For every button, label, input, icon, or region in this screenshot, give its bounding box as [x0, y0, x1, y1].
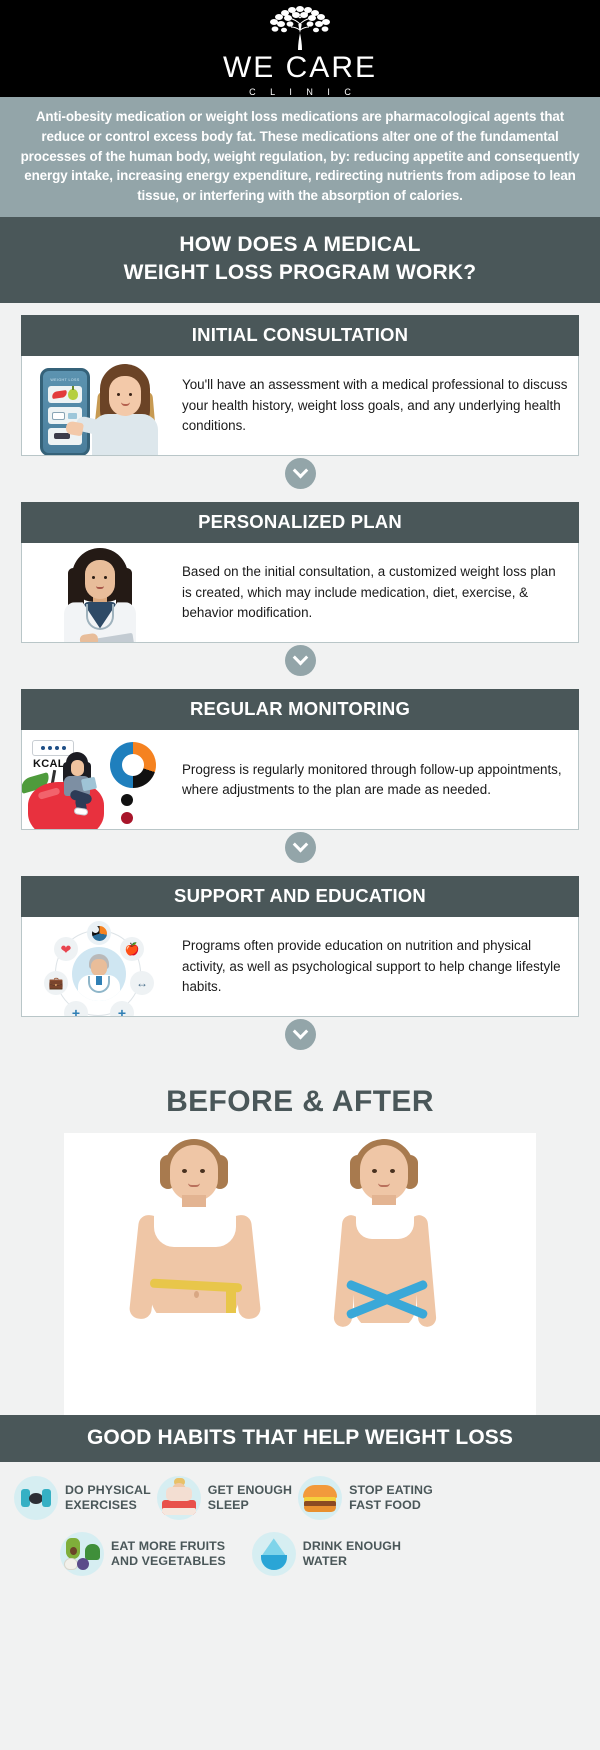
chili-icon	[52, 390, 68, 399]
brand-header: WE CARE C L I N I C	[0, 0, 600, 97]
step-heading: INITIAL CONSULTATION	[21, 315, 579, 356]
kcal-apple-donut-illustration: KCAL	[22, 730, 174, 829]
habits-title: GOOD HABITS THAT HELP WEIGHT LOSS	[0, 1415, 600, 1462]
doctor-wellness-wheel-illustration: ❤ 🍎 💼 ↔ + +	[22, 917, 174, 1016]
step-body: KCAL	[21, 730, 579, 830]
chevron-down-icon	[285, 1019, 316, 1050]
before-after-photo	[64, 1133, 536, 1415]
page-title: HOW DOES A MEDICAL WEIGHT LOSS PROGRAM W…	[0, 217, 600, 303]
step-body: Based on the initial consultation, a cus…	[21, 543, 579, 643]
habit-item-sleep: GET ENOUGH SLEEP	[157, 1476, 292, 1520]
step-card-personalized-plan: PERSONALIZED PLAN Based on the initial c…	[21, 502, 579, 643]
doctor-figure	[62, 548, 138, 642]
step-text: You'll have an assessment with a medical…	[174, 356, 578, 455]
step-body: WEIGHT LOSS	[21, 356, 579, 456]
sleep-icon	[157, 1476, 201, 1520]
seated-woman-figure	[56, 752, 100, 810]
step-card-support-and-education: SUPPORT AND EDUCATION ❤ 🍎 💼 ↔ + +	[21, 876, 579, 1017]
phone-screen-label: WEIGHT LOSS	[43, 378, 87, 382]
chevron-down-icon	[285, 832, 316, 863]
page-title-line2: WEIGHT LOSS PROGRAM WORK?	[10, 259, 590, 287]
step-heading: SUPPORT AND EDUCATION	[21, 876, 579, 917]
doctor-avatar	[72, 947, 126, 1001]
infographic-page: WE CARE C L I N I C Anti-obesity medicat…	[0, 0, 600, 1750]
habit-label: DRINK ENOUGH WATER	[303, 1539, 401, 1569]
step-text: Progress is regularly monitored through …	[174, 730, 578, 829]
brand-name: WE CARE	[223, 53, 377, 83]
phone-row-food	[48, 386, 82, 403]
female-doctor-photo	[22, 543, 174, 642]
phone-woman-illustration: WEIGHT LOSS	[22, 356, 174, 455]
before-after-title: BEFORE & AFTER	[0, 1063, 600, 1133]
dumbbell-small-icon	[54, 433, 70, 439]
legend-dots	[121, 794, 133, 829]
burger-icon	[298, 1476, 342, 1520]
donut-chart-icon	[110, 742, 156, 788]
after-figure	[310, 1145, 460, 1407]
plus-icon: +	[64, 1001, 88, 1016]
habit-item-fruits-vegetables: EAT MORE FRUITS AND VEGETABLES	[60, 1532, 226, 1576]
pill-icon	[68, 413, 77, 419]
step-connector	[21, 456, 579, 502]
steps-list: INITIAL CONSULTATION WEIGHT LOSS	[0, 303, 600, 1063]
pillbox-icon	[52, 412, 65, 420]
woman-pointing-figure	[82, 362, 174, 455]
chevron-down-icon	[285, 458, 316, 489]
dumbbell-icon	[14, 1476, 58, 1520]
intro-paragraph: Anti-obesity medication or weight loss m…	[0, 97, 600, 217]
habit-label: EAT MORE FRUITS AND VEGETABLES	[111, 1539, 226, 1569]
brand-subtitle: C L I N I C	[243, 87, 357, 97]
pear-icon	[68, 389, 78, 400]
habit-label: DO PHYSICAL EXERCISES	[65, 1483, 151, 1513]
habit-item-fastfood: STOP EATING FAST FOOD	[298, 1476, 433, 1520]
plus-icon: +	[110, 1001, 134, 1016]
step-text: Programs often provide education on nutr…	[174, 917, 578, 1016]
step-heading: REGULAR MONITORING	[21, 689, 579, 730]
step-text: Based on the initial consultation, a cus…	[174, 543, 578, 642]
page-title-line1: HOW DOES A MEDICAL	[10, 231, 590, 259]
step-body: ❤ 🍎 💼 ↔ + + Programs often provide educa…	[21, 917, 579, 1017]
chevron-down-icon	[285, 645, 316, 676]
tree-icon	[244, 4, 356, 52]
apple-icon: 🍎	[120, 937, 144, 961]
step-card-initial-consultation: INITIAL CONSULTATION WEIGHT LOSS	[21, 315, 579, 456]
habit-item-water: DRINK ENOUGH WATER	[252, 1532, 401, 1576]
step-heading: PERSONALIZED PLAN	[21, 502, 579, 543]
dumbbell-icon: ↔	[130, 971, 154, 995]
step-connector	[21, 1017, 579, 1063]
habits-list: DO PHYSICAL EXERCISES GET ENOUGH SLEEP S…	[0, 1462, 600, 1576]
step-connector	[21, 830, 579, 876]
vegetables-icon	[60, 1532, 104, 1576]
before-figure	[120, 1145, 270, 1407]
step-card-regular-monitoring: REGULAR MONITORING KCAL	[21, 689, 579, 830]
habit-label: GET ENOUGH SLEEP	[208, 1483, 292, 1513]
water-drop-icon	[252, 1532, 296, 1576]
habit-item-exercise: DO PHYSICAL EXERCISES	[14, 1476, 151, 1520]
habit-label: STOP EATING FAST FOOD	[349, 1483, 433, 1513]
step-connector	[21, 643, 579, 689]
